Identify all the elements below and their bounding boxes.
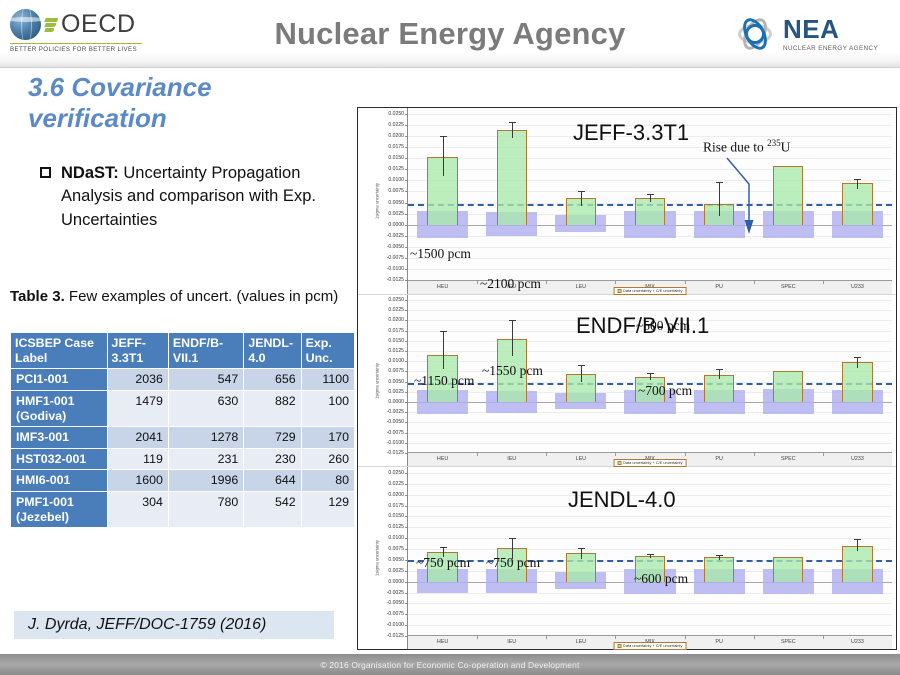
table-cell: 1600 <box>107 470 168 492</box>
table-cell: 119 <box>107 448 168 470</box>
y-tick-label: 0.0025 <box>388 211 404 217</box>
bullet-text: NDaST: Uncertainty Propagation Analysis … <box>61 162 340 232</box>
error-bar-cap <box>854 539 861 540</box>
table-row: HMI6-0011600199664480 <box>11 470 355 492</box>
y-tick-label: 0.0225 <box>388 307 404 313</box>
y-tick-label: 0.0050 <box>388 200 404 206</box>
table-case-label: PMF1-001 (Jezebel) <box>11 492 108 528</box>
y-tick-label: 0.0100 <box>388 358 404 364</box>
table-row: PMF1-001 (Jezebel)304780542129 <box>11 492 355 528</box>
legend-swatch-icon <box>618 644 622 648</box>
table-caption-bold: Table 3. <box>10 288 65 305</box>
legend-swatch-icon <box>618 461 622 465</box>
table-caption: Table 3. Few examples of uncert. (values… <box>10 287 340 307</box>
chart-legend: Data uncertainty + C/E uncertainty <box>614 642 687 650</box>
x-tick-label: HEU <box>437 284 448 290</box>
plot-wrap: 1sigma uncertainty0.02500.02250.02000.01… <box>358 295 896 466</box>
y-tick-label: 0.0175 <box>388 144 404 150</box>
callout-arrow-icon <box>725 156 759 238</box>
annotation-pcm: ~1550 pcm <box>482 363 543 379</box>
nea-logo: NEA NUCLEAR ENERGY AGENCY <box>734 8 886 60</box>
y-tick-label: 0.0250 <box>388 297 404 303</box>
table-cell: 644 <box>244 470 301 492</box>
table-cell: 1996 <box>168 470 243 492</box>
chart-jeff-3-3t1: 1sigma uncertainty0.02500.02250.02000.01… <box>358 108 896 294</box>
x-tick-label: SPEC <box>781 456 796 462</box>
y-tick-label: 0.0250 <box>388 470 404 476</box>
table-cell: 231 <box>168 448 243 470</box>
table-cell: 656 <box>244 369 301 391</box>
y-tick-label: -0.0125 <box>387 277 404 283</box>
nea-atom-icon <box>734 13 776 55</box>
bullet-block: NDaST: Uncertainty Propagation Analysis … <box>40 162 340 232</box>
x-tick-label: SPEC <box>781 284 796 290</box>
error-bar <box>650 373 651 380</box>
table-case-label: IMF3-001 <box>11 427 108 449</box>
y-tick-label: 0.0075 <box>388 188 404 194</box>
error-bar-cap <box>647 373 654 374</box>
annotation-pcm: ~500 pcm <box>636 318 690 334</box>
annotation-rise-note: Rise due to 235U <box>703 138 790 156</box>
y-tick-label: 0.0125 <box>388 166 404 172</box>
x-tick-label: LEU <box>576 284 587 290</box>
error-bar-cap <box>440 136 447 137</box>
table-cell: 542 <box>244 492 301 528</box>
annotation-pcm: ~750 pcm <box>486 555 540 571</box>
x-tick-label: PU <box>715 639 723 645</box>
y-tick-label: 0.0175 <box>388 328 404 334</box>
table-case-label: HST032-001 <box>11 448 108 470</box>
chart-legend: Data uncertainty + C/E uncertainty <box>614 287 687 295</box>
error-bar-cap <box>578 548 585 549</box>
y-tick-label: 0.0000 <box>388 579 404 585</box>
slide-canvas: OECD BETTER POLICIES FOR BETTER LIVES Nu… <box>0 0 900 675</box>
table-case-label: HMI6-001 <box>11 470 108 492</box>
data-uncertainty-bar <box>773 557 803 582</box>
y-tick-label: 0.0125 <box>388 524 404 530</box>
x-tick-label: SPEC <box>781 639 796 645</box>
data-uncertainty-bar <box>497 130 527 225</box>
slide-title: 3.6 Covariance verification <box>28 72 328 133</box>
table-cell: 780 <box>168 492 243 528</box>
x-tick-label: U233 <box>851 639 864 645</box>
table-cell: 547 <box>168 369 243 391</box>
error-bar <box>857 179 858 190</box>
x-tick-label: IEU <box>507 456 516 462</box>
legend-label: Data uncertainty + C/E uncertainty <box>623 460 682 466</box>
error-bar-cap <box>440 547 447 548</box>
error-bar <box>512 122 513 138</box>
annotation-pcm: ~750 pcm <box>416 555 470 571</box>
square-bullet-icon <box>40 167 51 178</box>
y-tick-label: 0.0150 <box>388 155 404 161</box>
table-cell: 2036 <box>107 369 168 391</box>
y-tick-label: 0.0200 <box>388 317 404 323</box>
x-tick-label: HEU <box>437 456 448 462</box>
y-tick-labels: 0.02500.02250.02000.01750.01500.01250.01… <box>366 295 406 466</box>
table-cell: 230 <box>244 448 301 470</box>
table-cell: 260 <box>301 448 354 470</box>
table-row: IMF3-00120411278729170 <box>11 427 355 449</box>
table-cell: 80 <box>301 470 354 492</box>
legend-label: Data uncertainty + C/E uncertainty <box>623 288 682 294</box>
y-tick-label: 0.0025 <box>388 389 404 395</box>
y-tick-label: -0.0025 <box>387 409 404 415</box>
error-bar-cap <box>509 538 516 539</box>
error-bar-cap <box>509 122 516 123</box>
table-row: HMF1-001 (Godiva)1479630882100 <box>11 390 355 426</box>
y-tick-label: 0.0000 <box>388 222 404 228</box>
y-tick-label: 0.0100 <box>388 535 404 541</box>
y-tick-label: 0.0150 <box>388 513 404 519</box>
y-tick-labels: 0.02500.02250.02000.01750.01500.01250.01… <box>366 467 406 649</box>
slide-header: OECD BETTER POLICIES FOR BETTER LIVES Nu… <box>0 0 900 68</box>
table-col-header-2: ENDF/B-VII.1 <box>168 333 243 369</box>
table-col-header-0: ICSBEP Case Label <box>11 333 108 369</box>
table-row: PCI1-00120365476561100 <box>11 369 355 391</box>
chart-endf-b-vii-1: 1sigma uncertainty0.02500.02250.02000.01… <box>358 294 896 466</box>
table-cell: 729 <box>244 427 301 449</box>
data-uncertainty-bar <box>842 546 872 582</box>
x-tick-label: IEU <box>507 639 516 645</box>
table-cell: 1278 <box>168 427 243 449</box>
table-cell: 304 <box>107 492 168 528</box>
y-tick-label: -0.0075 <box>387 255 404 261</box>
chart-title: JENDL-4.0 <box>568 487 676 513</box>
error-bar-cap <box>854 179 861 180</box>
x-tick-label: PU <box>715 284 723 290</box>
uncertainty-table: ICSBEP Case LabelJEFF-3.3T1ENDF/B-VII.1J… <box>10 332 355 528</box>
error-bar-cap <box>716 555 723 556</box>
chart-legend: Data uncertainty + C/E uncertainty <box>614 459 687 467</box>
y-tick-label: -0.0025 <box>387 233 404 239</box>
plot-wrap: 1sigma uncertainty0.02500.02250.02000.01… <box>358 467 896 649</box>
legend-label: Data uncertainty + C/E uncertainty <box>623 643 682 649</box>
y-tick-label: 0.0075 <box>388 546 404 552</box>
error-bar-cap <box>716 182 723 183</box>
error-bar <box>581 548 582 559</box>
nea-tagline: NUCLEAR ENERGY AGENCY <box>783 45 878 52</box>
error-bar-cap <box>440 331 447 332</box>
x-tick-label: U233 <box>851 284 864 290</box>
annotation-pcm: ~1150 pcm <box>414 373 474 389</box>
x-tick-label: PU <box>715 456 723 462</box>
y-tick-label: -0.0075 <box>387 611 404 617</box>
error-bar <box>857 539 858 552</box>
data-uncertainty-bar <box>842 362 872 402</box>
y-tick-label: 0.0050 <box>388 379 404 385</box>
y-tick-label: 0.0225 <box>388 481 404 487</box>
error-bar-cap <box>716 369 723 370</box>
y-tick-label: 0.0150 <box>388 338 404 344</box>
y-tick-label: 0.0075 <box>388 368 404 374</box>
error-bar <box>581 365 582 382</box>
annotation-pcm: ~700 pcm <box>638 383 692 399</box>
legend-swatch-icon <box>618 289 622 293</box>
table-header-row: ICSBEP Case LabelJEFF-3.3T1ENDF/B-VII.1J… <box>11 333 355 369</box>
table-case-label: PCI1-001 <box>11 369 108 391</box>
plot-wrap: 1sigma uncertainty0.02500.02250.02000.01… <box>358 108 896 294</box>
table-cell: 170 <box>301 427 354 449</box>
error-bar-cap <box>854 357 861 358</box>
table-row: HST032-001119231230260 <box>11 448 355 470</box>
annotation-pcm: ~600 pcm <box>634 571 688 587</box>
error-bar <box>581 191 582 206</box>
y-tick-label: -0.0050 <box>387 419 404 425</box>
annotation-pcm: ~1500 pcm <box>410 246 471 262</box>
y-tick-labels: 0.02500.02250.02000.01750.01500.01250.01… <box>366 108 406 294</box>
error-bar <box>512 320 513 357</box>
charts-panel: 1sigma uncertainty0.02500.02250.02000.01… <box>357 107 897 650</box>
annotation-pcm: ~2100 pcm <box>480 276 541 292</box>
data-uncertainty-bar <box>773 166 803 225</box>
x-tick-label: LEU <box>576 456 587 462</box>
error-bar-cap <box>509 320 516 321</box>
y-tick-label: 0.0225 <box>388 122 404 128</box>
citation-box: J. Dyrda, JEFF/DOC-1759 (2016) <box>14 611 334 639</box>
y-tick-label: -0.0050 <box>387 244 404 250</box>
y-tick-label: 0.0125 <box>388 348 404 354</box>
y-tick-label: -0.0125 <box>387 633 404 639</box>
y-tick-label: 0.0000 <box>388 399 404 405</box>
table-cell: 129 <box>301 492 354 528</box>
table-cell: 1100 <box>301 369 354 391</box>
table-cell: 2041 <box>107 427 168 449</box>
x-tick-label: LEU <box>576 639 587 645</box>
error-bar <box>443 136 444 177</box>
y-tick-label: 0.0175 <box>388 503 404 509</box>
error-bar-cap <box>647 194 654 195</box>
y-tick-label: -0.0125 <box>387 450 404 456</box>
y-tick-label: -0.0025 <box>387 590 404 596</box>
error-bar <box>650 194 651 202</box>
nea-wordmark: NEA <box>783 16 878 42</box>
table-caption-rest: Few examples of uncert. (values in pcm) <box>65 288 338 305</box>
y-tick-label: 0.0100 <box>388 177 404 183</box>
y-tick-label: -0.0100 <box>387 622 404 628</box>
x-tick-label: HEU <box>437 639 448 645</box>
slide-footer: © 2016 Organisation for Economic Co-oper… <box>0 654 900 675</box>
y-tick-label: 0.0200 <box>388 492 404 498</box>
table-cell: 1479 <box>107 390 168 426</box>
y-tick-label: -0.0100 <box>387 266 404 272</box>
chart-title: JEFF-3.3T1 <box>573 120 689 146</box>
data-uncertainty-bar <box>635 198 665 225</box>
error-bar <box>719 182 720 216</box>
error-bar <box>857 357 858 368</box>
table-col-header-1: JEFF-3.3T1 <box>107 333 168 369</box>
data-uncertainty-bar <box>773 371 803 402</box>
bullet-lead: NDaST: <box>61 164 119 182</box>
error-bar <box>719 369 720 380</box>
data-uncertainty-bar <box>704 557 734 581</box>
error-bar-cap <box>578 365 585 366</box>
table-cell: 882 <box>244 390 301 426</box>
table-col-header-4: Exp. Unc. <box>301 333 354 369</box>
table-case-label: HMF1-001 (Godiva) <box>11 390 108 426</box>
chart-jendl-4-0: 1sigma uncertainty0.02500.02250.02000.01… <box>358 466 896 649</box>
y-tick-label: 0.0025 <box>388 568 404 574</box>
y-tick-label: 0.0050 <box>388 557 404 563</box>
y-tick-label: -0.0050 <box>387 600 404 606</box>
y-tick-label: 0.0200 <box>388 133 404 139</box>
y-tick-label: 0.0250 <box>388 111 404 117</box>
table-cell: 630 <box>168 390 243 426</box>
table-col-header-3: JENDL-4.0 <box>244 333 301 369</box>
y-tick-label: -0.0075 <box>387 430 404 436</box>
table-cell: 100 <box>301 390 354 426</box>
error-bar <box>443 331 444 369</box>
error-bar-cap <box>578 191 585 192</box>
error-bar-cap <box>647 554 654 555</box>
y-tick-label: -0.0100 <box>387 440 404 446</box>
x-tick-label: U233 <box>851 456 864 462</box>
